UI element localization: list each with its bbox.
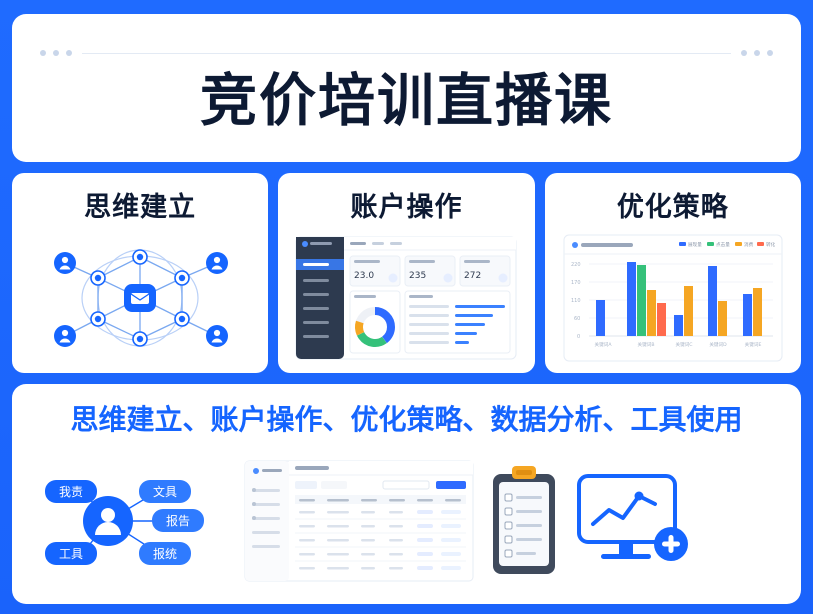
svg-text:关键词B: 关键词B — [637, 341, 654, 348]
bottom-mindmap: 我责 工具 文具 报告 报统 — [28, 461, 233, 581]
card-account-illustration: 23.0 235 272 — [288, 232, 524, 363]
dots-left — [40, 50, 72, 56]
mindmap-node-1-label: 文具 — [153, 484, 177, 499]
poster-root: 竞价培训直播课 思维建立 — [0, 0, 813, 614]
svg-text:点击量: 点击量 — [716, 241, 730, 248]
bottom-table-screenshot — [243, 459, 475, 583]
node-user-tr — [206, 252, 228, 274]
mindmap-node-4-label: 报统 — [153, 546, 177, 561]
bottom-illustrations: 我责 工具 文具 报告 报统 — [28, 448, 785, 594]
card-optimize[interactable]: 优化策略 展现量 点击量 消费 转化 — [545, 173, 801, 373]
svg-text:0: 0 — [577, 334, 580, 340]
mindmap-node-3-label: 工具 — [59, 547, 83, 561]
page-title: 竞价培训直播课 — [200, 55, 613, 137]
mindmap-diagram: 我责 工具 文具 报告 报统 — [28, 461, 233, 581]
mind-network-diagram — [25, 233, 255, 363]
feature-cards-row: 思维建立 — [12, 173, 801, 373]
card-thinking-title: 思维建立 — [84, 185, 196, 224]
bottom-clipboard — [485, 462, 563, 580]
card-account[interactable]: 账户操作 — [278, 173, 534, 373]
svg-text:220: 220 — [571, 262, 581, 268]
bottom-card: 思维建立、账户操作、优化策略、数据分析、工具使用 — [12, 384, 801, 604]
node-envelope — [124, 284, 156, 312]
divider-line — [82, 53, 731, 54]
svg-text:170: 170 — [571, 280, 581, 286]
mindmap-node-2-label: 报告 — [166, 513, 190, 528]
svg-text:关键词E: 关键词E — [744, 341, 761, 348]
svg-text:消费: 消费 — [744, 241, 754, 248]
svg-text:110: 110 — [571, 298, 581, 304]
table-screenshot — [243, 459, 475, 583]
plus-icon[interactable] — [654, 527, 688, 561]
bottom-monitor — [573, 466, 693, 576]
monitor-line-chart-icon — [573, 466, 693, 576]
card-optimize-illustration: 展现量 点击量 消费 转化 220 170 110 60 0 — [555, 232, 791, 364]
node-user-bl — [54, 325, 76, 347]
title-decoration — [40, 50, 773, 56]
svg-text:展现量: 展现量 — [688, 241, 702, 248]
svg-text:272: 272 — [464, 271, 481, 281]
card-thinking-illustration — [22, 232, 258, 363]
bottom-card-title: 思维建立、账户操作、优化策略、数据分析、工具使用 — [28, 398, 785, 438]
card-account-title: 账户操作 — [350, 185, 462, 224]
svg-text:关键词A: 关键词A — [594, 341, 612, 348]
clipboard-checklist-icon — [485, 462, 563, 580]
dashboard-screenshot: 23.0 235 272 — [292, 233, 520, 363]
title-card: 竞价培训直播课 — [12, 14, 801, 162]
svg-text:关键词C: 关键词C — [675, 341, 692, 348]
node-user-br — [206, 325, 228, 347]
svg-text:转化: 转化 — [766, 241, 776, 248]
mindmap-center — [83, 496, 133, 546]
bar-chart-screenshot: 展现量 点击量 消费 转化 220 170 110 60 0 — [561, 232, 785, 364]
dots-right — [741, 50, 773, 56]
mindmap-node-0-label: 我责 — [59, 485, 83, 499]
svg-text:关键词D: 关键词D — [709, 341, 727, 348]
node-user-tl — [54, 252, 76, 274]
svg-text:60: 60 — [574, 316, 580, 322]
svg-text:23.0: 23.0 — [354, 271, 374, 281]
card-optimize-title: 优化策略 — [617, 185, 729, 224]
svg-text:235: 235 — [409, 271, 426, 281]
card-thinking[interactable]: 思维建立 — [12, 173, 268, 373]
